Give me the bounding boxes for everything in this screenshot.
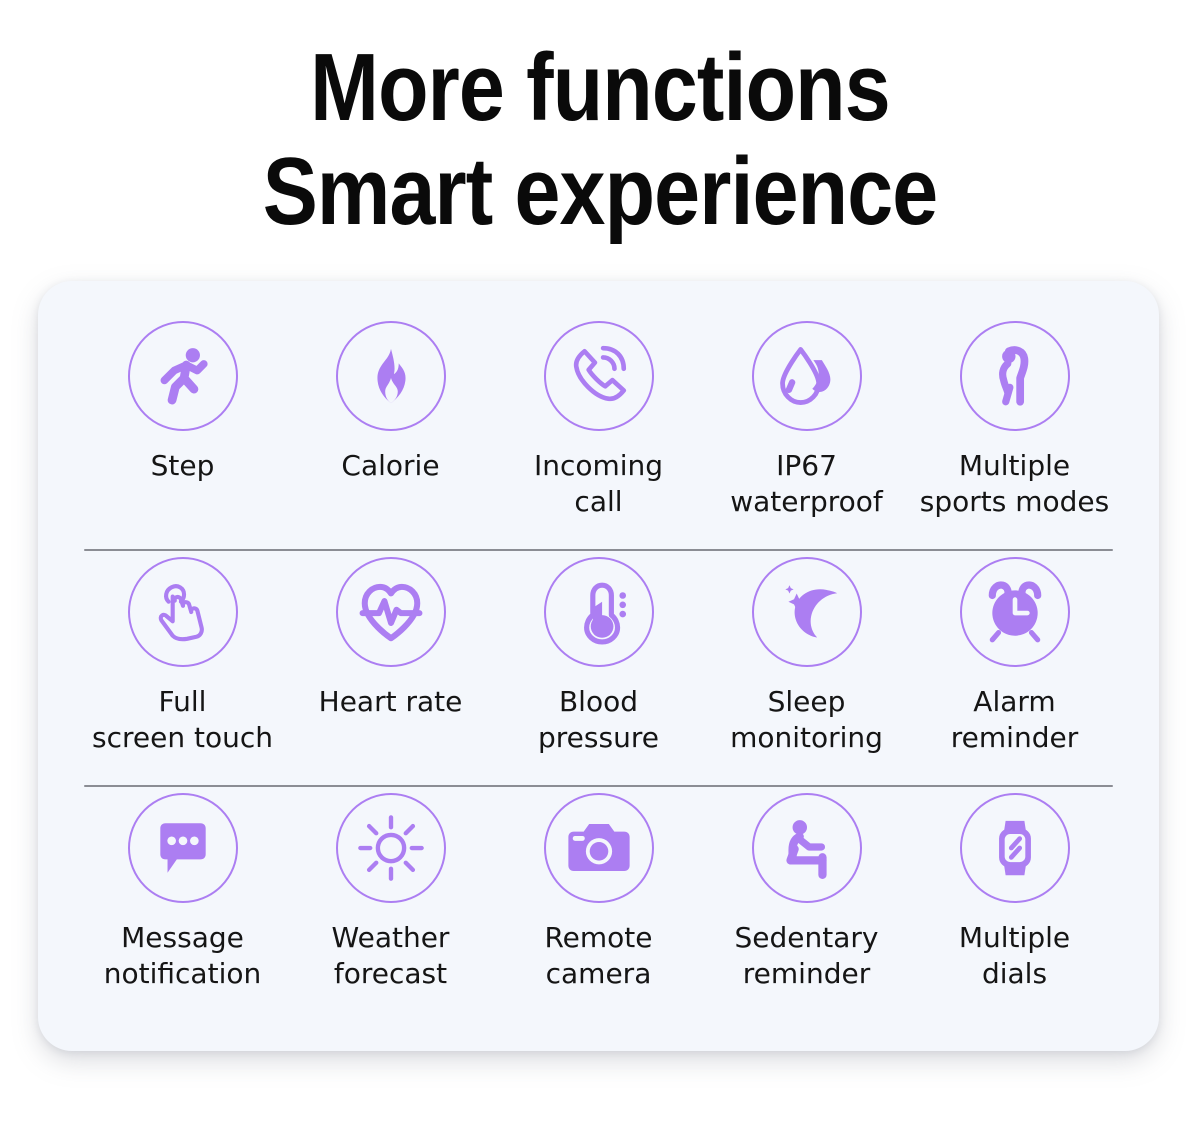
page-title: More functions Smart experience: [0, 36, 1200, 244]
row-divider-1: [84, 549, 1113, 551]
row-divider-2: [84, 785, 1113, 787]
feature-multiple-sports-modes[interactable]: Multiple sports modes: [912, 321, 1117, 520]
page-title-line-1: More functions: [84, 36, 1116, 140]
stretching-person-icon: [960, 321, 1070, 431]
feature-full-screen-touch[interactable]: Full screen touch: [80, 557, 285, 756]
feature-label: Sedentary reminder: [735, 920, 879, 992]
feature-blood-pressure[interactable]: Blood pressure: [496, 557, 701, 756]
feature-label: Multiple dials: [959, 920, 1070, 992]
feature-remote-camera[interactable]: Remote camera: [496, 793, 701, 992]
feature-label: Remote camera: [544, 920, 652, 992]
feature-label: IP67 waterproof: [704, 448, 909, 520]
page-root: More functions Smart experience: [0, 0, 1200, 1145]
moon-stars-icon: [752, 557, 862, 667]
feature-label: Multiple sports modes: [907, 448, 1122, 520]
feature-row-2: Full screen touch Heart rate: [74, 557, 1123, 781]
feature-label: Alarm reminder: [951, 684, 1078, 756]
feature-label: Full screen touch: [92, 684, 273, 756]
sun-icon: [336, 793, 446, 903]
feature-label: Incoming call: [534, 448, 663, 520]
feature-sleep-monitoring[interactable]: Sleep monitoring: [704, 557, 909, 756]
feature-label: Step: [151, 448, 215, 484]
feature-ip67-waterproof[interactable]: IP67 waterproof: [704, 321, 909, 520]
feature-calorie[interactable]: Calorie: [288, 321, 493, 484]
feature-message-notification[interactable]: Message notification: [80, 793, 285, 992]
running-person-icon: [128, 321, 238, 431]
camera-icon: [544, 793, 654, 903]
feature-multiple-dials[interactable]: Multiple dials: [912, 793, 1117, 992]
feature-label: Calorie: [341, 448, 439, 484]
thermometer-icon: [544, 557, 654, 667]
feature-step[interactable]: Step: [80, 321, 285, 484]
features-card: Step Calorie: [38, 281, 1159, 1051]
water-drop-icon: [752, 321, 862, 431]
feature-weather-forecast[interactable]: Weather forecast: [288, 793, 493, 992]
feature-heart-rate[interactable]: Heart rate: [288, 557, 493, 720]
alarm-clock-icon: [960, 557, 1070, 667]
smartwatch-icon: [960, 793, 1070, 903]
phone-call-icon: [544, 321, 654, 431]
feature-label: Weather forecast: [332, 920, 450, 992]
heart-pulse-icon: [336, 557, 446, 667]
feature-row-3: Message notification: [74, 793, 1123, 1017]
feature-label: Blood pressure: [538, 684, 659, 756]
feature-label: Heart rate: [319, 684, 463, 720]
sitting-person-icon: [752, 793, 862, 903]
tap-hand-icon: [128, 557, 238, 667]
feature-row-1: Step Calorie: [74, 321, 1123, 545]
feature-sedentary-reminder[interactable]: Sedentary reminder: [704, 793, 909, 992]
features-grid: Step Calorie: [74, 321, 1123, 1017]
page-title-line-2: Smart experience: [84, 140, 1116, 244]
feature-label: Sleep monitoring: [730, 684, 883, 756]
flame-icon: [336, 321, 446, 431]
feature-label: Message notification: [104, 920, 261, 992]
feature-incoming-call[interactable]: Incoming call: [496, 321, 701, 520]
feature-alarm-reminder[interactable]: Alarm reminder: [912, 557, 1117, 756]
chat-bubble-icon: [128, 793, 238, 903]
